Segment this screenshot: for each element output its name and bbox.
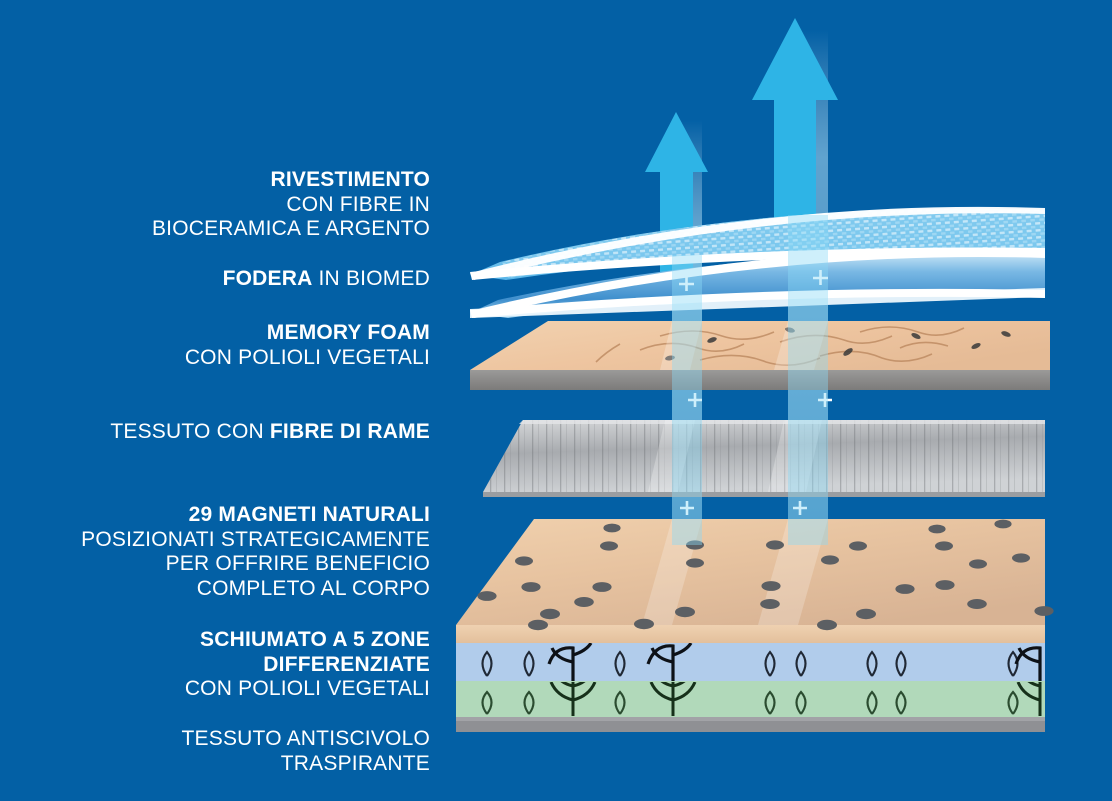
schiumato-blue-band [456, 643, 1045, 681]
label-magneti-line-3: PER OFFRIRE BENEFICIO [0, 552, 430, 577]
label-schiumato-line-2: DIFFERENZIATE [0, 653, 430, 678]
label-schiumato-line-1: SCHIUMATO A 5 ZONE [0, 628, 430, 653]
label-column: RIVESTIMENTO CON FIBRE IN BIOCERAMICA E … [0, 0, 430, 801]
label-antiscivolo-line-2: TRASPIRANTE [0, 752, 430, 777]
label-magneti-line-4: COMPLETO AL CORPO [0, 577, 430, 602]
label-fibre-di-rame: TESSUTO CON FIBRE DI RAME [0, 420, 430, 445]
infographic-stage: RIVESTIMENTO CON FIBRE IN BIOCERAMICA E … [0, 0, 1112, 801]
label-rame-bold: FIBRE DI RAME [270, 420, 430, 443]
label-rivestimento-line-2: CON FIBRE IN [0, 193, 430, 218]
fibre-di-rame-sheet [483, 420, 1045, 497]
label-antiscivolo-line-1: TESSUTO ANTISCIVOLO [0, 727, 430, 752]
tessuto-antiscivolo-base [456, 716, 1045, 732]
label-fodera-bold: FODERA [223, 267, 313, 290]
label-magneti-line-1: 29 MAGNETI NATURALI [0, 503, 430, 528]
label-magneti-line-2: POSIZIONATI STRATEGICAMENTE [0, 528, 430, 553]
label-memory-foam: MEMORY FOAM CON POLIOLI VEGETALI [0, 321, 430, 370]
label-schiumato-5-zone: SCHIUMATO A 5 ZONE DIFFERENZIATE CON POL… [0, 628, 430, 702]
label-schiumato-line-3: CON POLIOLI VEGETALI [0, 677, 430, 702]
label-fodera: FODERA IN BIOMED [0, 267, 430, 292]
label-rame-rest: TESSUTO CON [110, 420, 270, 443]
label-magneti-naturali: 29 MAGNETI NATURALI POSIZIONATI STRATEGI… [0, 503, 430, 601]
label-fodera-rest: IN BIOMED [312, 267, 430, 290]
label-memory-line-1: MEMORY FOAM [0, 321, 430, 346]
label-rivestimento-line-1: RIVESTIMENTO [0, 168, 430, 193]
label-rivestimento-line-3: BIOCERAMICA E ARGENTO [0, 217, 430, 242]
label-rivestimento: RIVESTIMENTO CON FIBRE IN BIOCERAMICA E … [0, 168, 430, 242]
label-tessuto-antiscivolo: TESSUTO ANTISCIVOLO TRASPIRANTE [0, 727, 430, 776]
memory-foam-slab [470, 321, 1050, 390]
label-memory-line-2: CON POLIOLI VEGETALI [0, 346, 430, 371]
magneti-slab [456, 519, 1054, 643]
